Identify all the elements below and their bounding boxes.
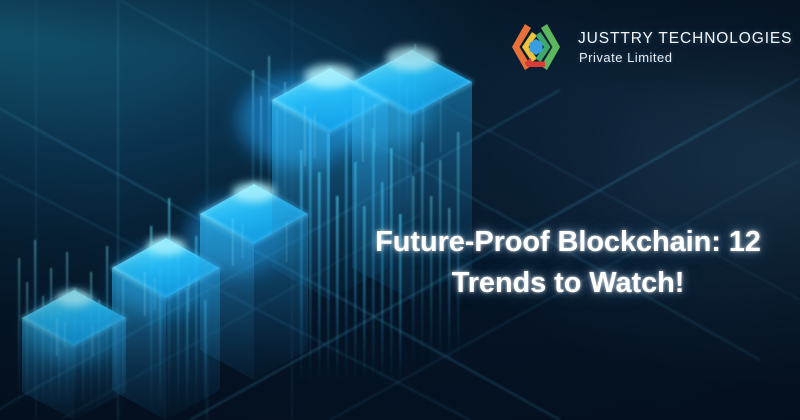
brand-text-block: JUSTTRY TECHNOLOGIES Private Limited	[578, 28, 792, 67]
page-title: Future-Proof Blockchain: 12 Trends to Wa…	[352, 222, 784, 304]
hexagon-swirl-logo-icon	[505, 18, 567, 76]
page-title-line-1: Future-Proof Blockchain: 12	[352, 222, 784, 263]
page-title-line-2: Trends to Watch!	[352, 263, 784, 304]
blog-banner: JUSTTRY TECHNOLOGIES Private Limited Fut…	[0, 0, 800, 420]
brand-subtitle: Private Limited	[579, 50, 792, 66]
brand-name: JUSTTRY TECHNOLOGIES	[578, 30, 792, 48]
brand-logo[interactable]: JUSTTRY TECHNOLOGIES Private Limited	[505, 18, 792, 76]
